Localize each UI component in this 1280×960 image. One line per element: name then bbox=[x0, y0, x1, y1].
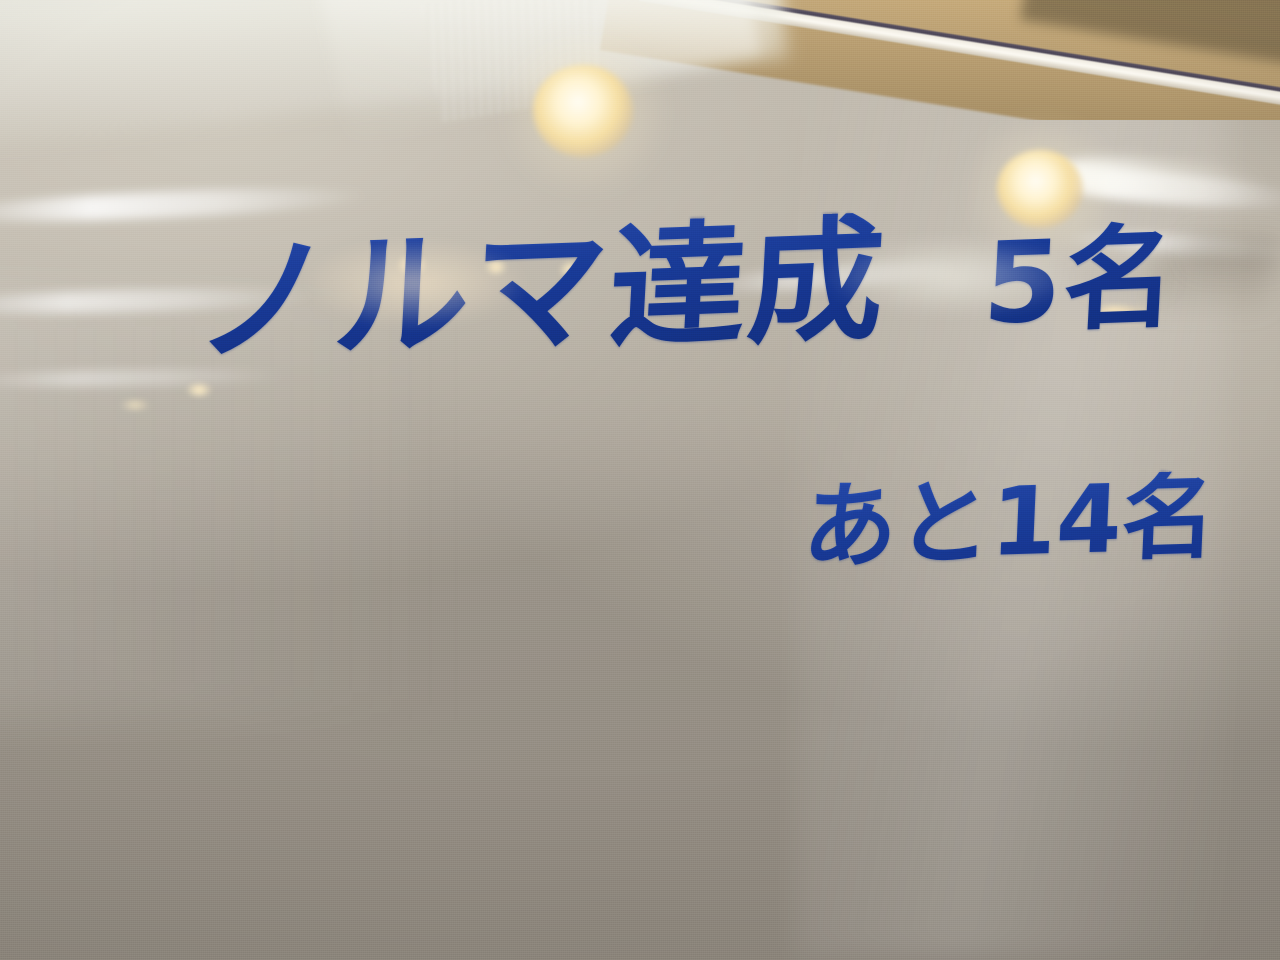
room-reflection-2 bbox=[1190, 236, 1280, 270]
photo-whiteboard-scene: ノルマ達成 5名 あと14名 bbox=[0, 0, 1280, 960]
lamp-speckle-5 bbox=[120, 400, 150, 410]
handwritten-label-quota: ノルマ達成 bbox=[192, 201, 890, 383]
downlight-reflection-left-icon bbox=[533, 65, 633, 157]
handwritten-count-achieved: 5名 bbox=[980, 213, 1181, 350]
handwritten-count-remaining: 14名 bbox=[989, 462, 1218, 577]
lamp-speckle-1 bbox=[186, 384, 212, 396]
handwritten-line-quota-achieved: ノルマ達成 5名 bbox=[192, 202, 1181, 373]
handwritten-line-remaining: あと14名 bbox=[801, 470, 1218, 576]
handwritten-label-remaining: あと bbox=[801, 469, 994, 583]
